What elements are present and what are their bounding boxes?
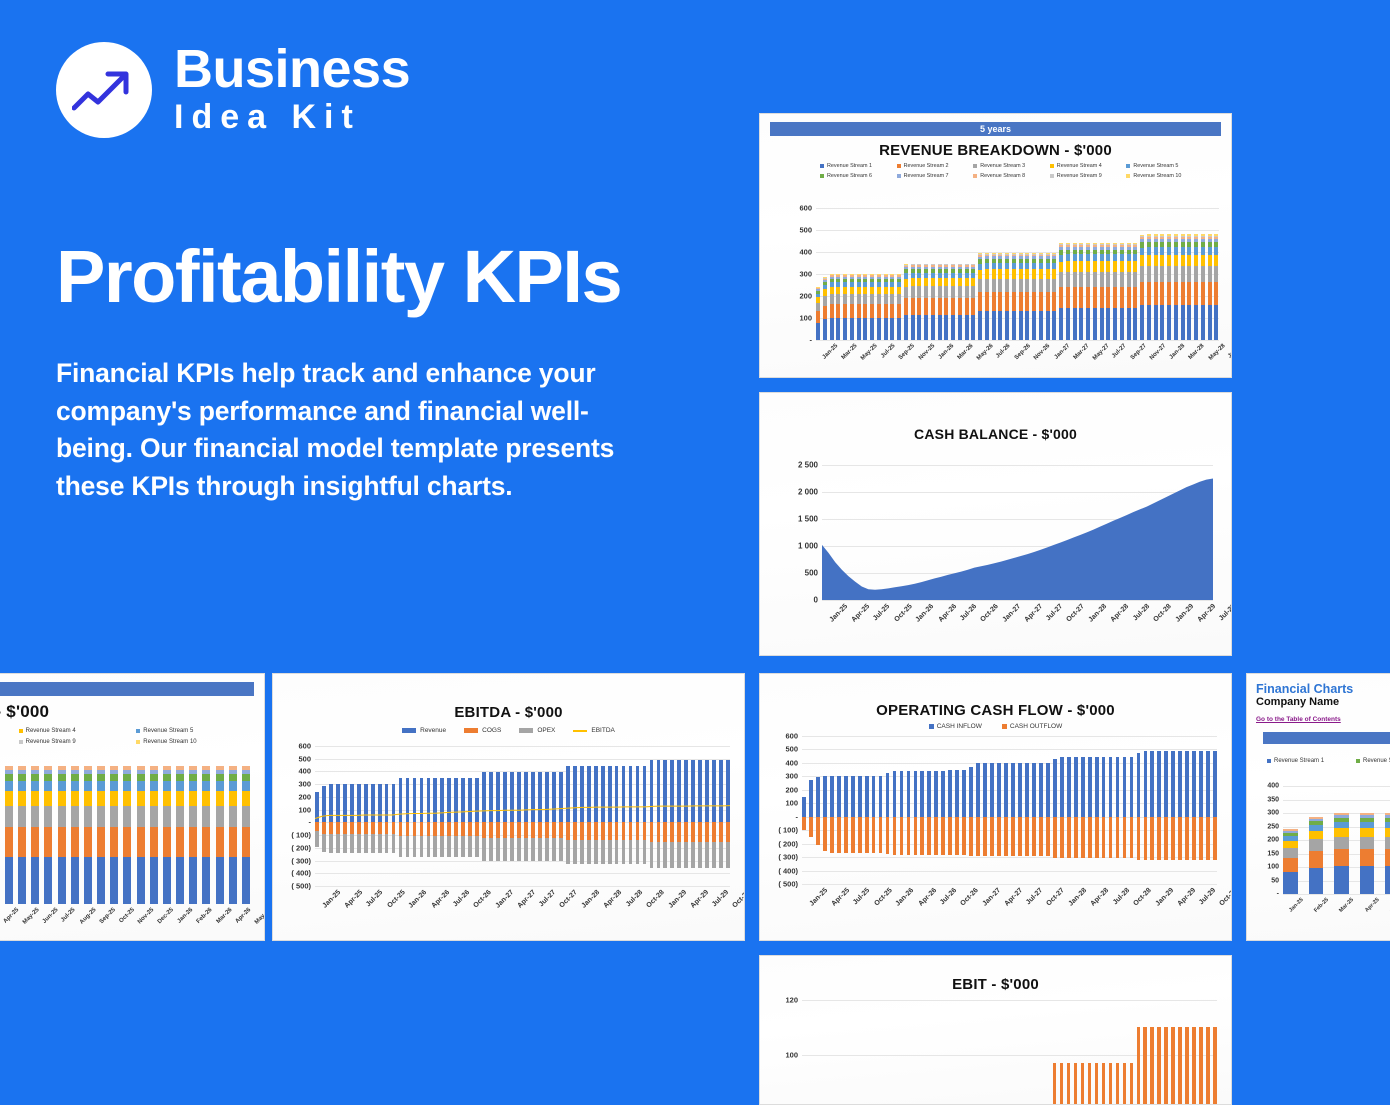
bar-segment bbox=[1120, 308, 1124, 340]
stacked-bar bbox=[71, 766, 79, 904]
bar-segment bbox=[97, 774, 105, 781]
bar-segment bbox=[123, 857, 131, 904]
bar-segment bbox=[1032, 279, 1036, 292]
bar-positive bbox=[802, 797, 806, 817]
bar-segment bbox=[216, 774, 224, 781]
bar bbox=[1213, 1027, 1216, 1105]
bar-series bbox=[0, 766, 250, 904]
bar-segment bbox=[137, 774, 145, 781]
bar-segment bbox=[1360, 837, 1375, 849]
legend-revenue-24m: Revenue Stream 3Revenue Stream 4Revenue … bbox=[0, 728, 254, 745]
bar-positive bbox=[1206, 751, 1210, 817]
x-axis-label: Jan-28 bbox=[1169, 343, 1187, 361]
plot-revenue-5y: 600500400300200100-Jan-25Mar-25May-25Jul… bbox=[816, 208, 1219, 340]
legend-item: Revenue Stream 8 bbox=[0, 739, 19, 745]
x-axis-label: Jul-29 bbox=[1218, 603, 1232, 622]
bar-segment bbox=[202, 806, 210, 827]
bar-positive bbox=[1025, 763, 1029, 817]
bar-segment bbox=[890, 287, 894, 294]
bar-segment bbox=[18, 806, 26, 827]
stacked-bar bbox=[202, 766, 210, 904]
bar-segment bbox=[1214, 282, 1218, 305]
bar-segment bbox=[870, 304, 874, 319]
stacked-bar bbox=[1214, 234, 1218, 340]
bar-segment bbox=[1093, 272, 1097, 287]
bar-segment bbox=[71, 774, 79, 781]
stacked-bar bbox=[1046, 253, 1050, 340]
bar-positive bbox=[920, 771, 924, 817]
y-axis-label: 600 bbox=[298, 742, 311, 751]
stacked-bar bbox=[1019, 253, 1023, 340]
bar-negative bbox=[844, 817, 848, 854]
bar-segment bbox=[985, 311, 989, 340]
bar-segment bbox=[1039, 292, 1043, 311]
bar-positive bbox=[1039, 763, 1043, 817]
bar-negative bbox=[872, 817, 876, 854]
panel-cash-balance[interactable]: CASH BALANCE - $'000 2 5002 0001 5001 00… bbox=[759, 392, 1232, 656]
bar-negative bbox=[976, 817, 980, 857]
bar-segment bbox=[216, 857, 224, 904]
bar-segment bbox=[843, 287, 847, 294]
bar-positive bbox=[844, 776, 848, 817]
bar-segment bbox=[1079, 308, 1083, 340]
x-axis: Jan-25Mar-25May-25Jul-25Sep-25Nov-25Jan-… bbox=[816, 343, 1219, 349]
bar-positive bbox=[886, 773, 890, 817]
bar-segment bbox=[1106, 308, 1110, 340]
stacked-bar bbox=[965, 263, 969, 340]
y-axis-label: 300 bbox=[1267, 810, 1279, 817]
bar-segment bbox=[924, 278, 928, 286]
bar-negative bbox=[914, 817, 918, 855]
x-axis-label: Jul-26 bbox=[959, 603, 978, 622]
bar-positive bbox=[934, 771, 938, 817]
bar-segment bbox=[931, 298, 935, 315]
x-axis-label: Jul-26 bbox=[996, 343, 1013, 360]
bar-segment bbox=[944, 298, 948, 315]
bar-segment bbox=[985, 292, 989, 311]
bar bbox=[1157, 1027, 1160, 1105]
bar-positive bbox=[865, 776, 869, 817]
bar-segment bbox=[44, 781, 52, 791]
bar-segment bbox=[150, 781, 158, 791]
bar-segment bbox=[216, 791, 224, 806]
bar bbox=[1081, 1063, 1084, 1105]
stacked-bar bbox=[998, 253, 1002, 340]
bar-segment bbox=[1167, 305, 1171, 340]
stacked-bar bbox=[1334, 813, 1349, 894]
x-axis-label: Jan-27 bbox=[494, 889, 515, 910]
bar-negative bbox=[1206, 817, 1210, 860]
bar bbox=[1123, 1063, 1126, 1105]
legend-label: Revenue Stream 1 bbox=[827, 163, 872, 169]
legend-label: OPEX bbox=[537, 727, 555, 734]
bar-segment bbox=[843, 294, 847, 304]
gridline bbox=[1283, 894, 1390, 895]
bar-negative bbox=[837, 817, 841, 853]
bar-segment bbox=[1201, 255, 1205, 267]
bar-segment bbox=[31, 827, 39, 857]
y-axis-label: 600 bbox=[785, 732, 798, 741]
stacked-bar bbox=[216, 766, 224, 904]
legend-label: Revenue Stream 6 bbox=[1363, 758, 1390, 764]
bar-segment bbox=[1181, 255, 1185, 267]
bar-segment bbox=[1194, 282, 1198, 305]
bar-segment bbox=[123, 806, 131, 827]
legend-item: Revenue Stream 1 bbox=[820, 163, 897, 169]
legend-label: Revenue Stream 9 bbox=[1057, 173, 1102, 179]
bar-segment bbox=[1120, 272, 1124, 287]
bar-segment bbox=[202, 857, 210, 904]
bar-segment bbox=[1120, 261, 1124, 272]
bar-negative bbox=[1213, 817, 1217, 860]
bar-segment bbox=[877, 304, 881, 319]
bar-segment bbox=[1052, 279, 1056, 292]
bar-negative bbox=[1144, 817, 1148, 860]
bar-segment bbox=[18, 774, 26, 781]
bar-positive bbox=[1150, 751, 1154, 817]
bar-segment bbox=[58, 827, 66, 857]
bar-segment bbox=[189, 827, 197, 857]
bar-negative bbox=[1004, 817, 1008, 857]
bar-segment bbox=[911, 286, 915, 297]
ebitda-line-series bbox=[315, 746, 730, 886]
table-of-contents-link[interactable]: Go to the Table of Contents bbox=[1256, 716, 1341, 723]
brand-text: Business Idea Kit bbox=[174, 42, 410, 139]
bar-segment bbox=[229, 857, 237, 904]
x-axis-label: May-26 bbox=[254, 907, 265, 926]
bar-segment bbox=[1086, 308, 1090, 340]
bar-segment bbox=[1201, 305, 1205, 340]
y-axis-label: 250 bbox=[1267, 823, 1279, 830]
bar-positive bbox=[969, 767, 973, 817]
legend-item: Revenue Stream 8 bbox=[973, 173, 1050, 179]
bar-segment bbox=[1093, 261, 1097, 272]
bar-segment bbox=[958, 315, 962, 340]
stacked-bar bbox=[911, 263, 915, 340]
bar-positive bbox=[1067, 757, 1071, 817]
legend-label: Revenue Stream 7 bbox=[904, 173, 949, 179]
bar-segment bbox=[1385, 849, 1390, 867]
bar-segment bbox=[877, 294, 881, 304]
bar-segment bbox=[1127, 287, 1131, 308]
bar-segment bbox=[1334, 866, 1349, 894]
bar-segment bbox=[978, 279, 982, 292]
x-axis-label: Apr-26 bbox=[937, 603, 958, 624]
bar-segment bbox=[917, 315, 921, 340]
bar-segment bbox=[1052, 311, 1056, 340]
legend-swatch-icon bbox=[1356, 759, 1360, 763]
bar-negative bbox=[1067, 817, 1071, 858]
bar-negative bbox=[1018, 817, 1022, 857]
bar-segment bbox=[137, 827, 145, 857]
bar-segment bbox=[1174, 305, 1178, 340]
bar-segment bbox=[1133, 272, 1137, 287]
bar-segment bbox=[123, 791, 131, 806]
x-axis-label: Jul-25 bbox=[880, 343, 897, 360]
bar-segment bbox=[1005, 269, 1009, 279]
bar-segment bbox=[1160, 266, 1164, 282]
stacked-bar bbox=[843, 274, 847, 340]
x-axis-label: Jan-26 bbox=[915, 603, 936, 624]
y-axis-label: 100 bbox=[785, 1051, 798, 1060]
bar-negative bbox=[1081, 817, 1085, 858]
brand-logo: Business Idea Kit bbox=[56, 42, 410, 139]
panel-operating-cash-flow[interactable]: OPERATING CASH FLOW - $'000 CASH INFLOWC… bbox=[759, 673, 1232, 941]
bar-segment bbox=[911, 298, 915, 315]
bar-segment bbox=[84, 781, 92, 791]
bar-segment bbox=[1019, 269, 1023, 279]
x-axis-label: Oct-27 bbox=[559, 889, 579, 909]
bar-segment bbox=[5, 806, 13, 827]
bar bbox=[1178, 1027, 1181, 1105]
bar-segment bbox=[850, 318, 854, 340]
bar-segment bbox=[938, 315, 942, 340]
page-title: Profitability KPIs bbox=[56, 240, 621, 314]
bar-segment bbox=[110, 827, 118, 857]
y-axis-label: - bbox=[810, 336, 813, 345]
x-axis-label: Jan-26 bbox=[408, 889, 429, 910]
y-axis-label: ( 200) bbox=[778, 839, 798, 848]
bar-negative bbox=[1053, 817, 1057, 858]
bar-segment bbox=[1093, 254, 1097, 261]
bar-segment bbox=[863, 294, 867, 304]
y-axis-label: 100 bbox=[1267, 864, 1279, 871]
bar-segment bbox=[884, 287, 888, 294]
stacked-bar bbox=[5, 766, 13, 904]
bar-segment bbox=[924, 315, 928, 340]
bar-segment bbox=[1073, 254, 1077, 261]
bar-segment bbox=[1167, 247, 1171, 254]
chart-title-ebit: EBIT - $'000 bbox=[760, 976, 1231, 993]
bar-segment bbox=[1100, 272, 1104, 287]
bar-segment bbox=[1283, 858, 1298, 872]
bar-negative bbox=[816, 817, 820, 845]
band-financial-charts bbox=[1263, 732, 1390, 744]
bar-negative bbox=[1178, 817, 1182, 860]
x-axis-label: Jan-27 bbox=[981, 887, 1002, 908]
stacked-bar bbox=[1100, 243, 1104, 340]
x-axis-label: Nov-25 bbox=[918, 343, 936, 361]
panel-ebit[interactable]: EBIT - $'000 12010080 bbox=[759, 955, 1232, 1105]
y-axis-label: 600 bbox=[799, 204, 812, 213]
bar-segment bbox=[1181, 266, 1185, 282]
stacked-bar bbox=[1127, 243, 1131, 340]
y-axis-label: ( 400) bbox=[291, 869, 311, 878]
legend-label: Revenue Stream 2 bbox=[904, 163, 949, 169]
bar-negative bbox=[1088, 817, 1092, 858]
stacked-bar bbox=[1039, 253, 1043, 340]
bar-negative bbox=[1150, 817, 1154, 860]
legend-swatch-icon bbox=[19, 729, 23, 733]
bar-segment bbox=[1309, 831, 1324, 840]
bar-segment bbox=[31, 774, 39, 781]
x-axis-label: Feb-26 bbox=[196, 907, 214, 925]
bar-segment bbox=[229, 827, 237, 857]
bar-segment bbox=[904, 315, 908, 340]
bar-segment bbox=[1214, 255, 1218, 267]
bar-segment bbox=[176, 781, 184, 791]
bar-segment bbox=[965, 286, 969, 297]
bar-segment bbox=[1113, 254, 1117, 261]
bar-segment bbox=[1154, 266, 1158, 282]
panel-ebitda[interactable]: EBITDA - $'000 RevenueCOGSOPEXEBITDA 600… bbox=[272, 673, 745, 941]
stacked-bar bbox=[137, 766, 145, 904]
panel-financial-charts[interactable]: Financial Charts Company Name Go to the … bbox=[1246, 673, 1390, 941]
y-axis-label: 100 bbox=[785, 799, 798, 808]
bar-segment bbox=[1032, 311, 1036, 340]
bar-segment bbox=[1187, 247, 1191, 254]
panel-revenue-breakdown-24m[interactable]: 24 months REAKDOWN - $'000 Revenue Strea… bbox=[0, 673, 265, 941]
y-axis-label: 2 500 bbox=[798, 461, 818, 470]
bar-negative bbox=[1095, 817, 1099, 858]
bar-segment bbox=[857, 287, 861, 294]
bar-negative bbox=[1123, 817, 1127, 858]
chart-title-revenue-5y: REVENUE BREAKDOWN - $'000 bbox=[760, 142, 1231, 159]
stacked-bar bbox=[890, 274, 894, 340]
bar-segment bbox=[110, 774, 118, 781]
bar-negative bbox=[1102, 817, 1106, 858]
legend-swatch-icon bbox=[136, 740, 140, 744]
bar-segment bbox=[931, 278, 935, 286]
bar-negative bbox=[920, 817, 924, 855]
bar-segment bbox=[1174, 282, 1178, 305]
stacked-bar bbox=[189, 766, 197, 904]
bar-segment bbox=[992, 311, 996, 340]
bar-segment bbox=[857, 304, 861, 319]
x-axis-label: May-25 bbox=[860, 343, 879, 362]
stacked-bar bbox=[1066, 243, 1070, 340]
bar-segment bbox=[137, 806, 145, 827]
x-axis-label: Apr-26 bbox=[234, 907, 252, 925]
y-axis-label: 2 000 bbox=[798, 488, 818, 497]
bar-segment bbox=[1127, 308, 1131, 340]
bar-negative bbox=[1116, 817, 1120, 858]
bar-segment bbox=[1360, 866, 1375, 894]
x-axis-label: Apr-25 bbox=[851, 603, 872, 624]
bar-segment bbox=[965, 298, 969, 315]
bar-segment bbox=[884, 318, 888, 340]
stacked-bar bbox=[830, 274, 834, 340]
bar-segment bbox=[1127, 261, 1131, 272]
stacked-bar bbox=[904, 264, 908, 340]
x-axis-label: Sep-27 bbox=[1129, 343, 1147, 361]
x-axis-label: Apr-28 bbox=[1110, 603, 1131, 624]
x-axis-label: Oct-25 bbox=[873, 887, 893, 907]
legend-label: Revenue Stream 8 bbox=[980, 173, 1025, 179]
bar-positive bbox=[1032, 763, 1036, 817]
x-axis-label: Oct-28 bbox=[1132, 887, 1152, 907]
bar-negative bbox=[941, 817, 945, 855]
bar-segment bbox=[897, 318, 901, 340]
bar-negative bbox=[1032, 817, 1036, 857]
bar bbox=[1185, 1027, 1188, 1105]
legend-label: Revenue Stream 1 bbox=[1274, 758, 1324, 764]
bar bbox=[1060, 1063, 1063, 1105]
bar-negative bbox=[1171, 817, 1175, 860]
bar bbox=[1109, 1063, 1112, 1105]
bar-segment bbox=[1025, 292, 1029, 311]
bar-segment bbox=[71, 827, 79, 857]
bar-segment bbox=[84, 774, 92, 781]
bar-negative bbox=[1192, 817, 1196, 860]
x-axis-label: Jul-27 bbox=[1045, 603, 1064, 622]
x-axis-label: Mar-25 bbox=[0, 907, 1, 925]
bar-segment bbox=[1140, 305, 1144, 340]
bar-segment bbox=[870, 294, 874, 304]
bar-segment bbox=[71, 781, 79, 791]
bar-segment bbox=[189, 791, 197, 806]
bar-positive bbox=[830, 776, 834, 817]
x-axis-label: Nov-26 bbox=[1033, 343, 1051, 361]
bar-segment bbox=[1181, 305, 1185, 340]
bar-segment bbox=[1086, 287, 1090, 308]
bar-segment bbox=[1309, 868, 1324, 894]
legend-item: Revenue Stream 4 bbox=[1050, 163, 1127, 169]
bar-segment bbox=[202, 827, 210, 857]
legend-swatch-icon bbox=[1050, 164, 1054, 168]
stacked-bar bbox=[1052, 253, 1056, 340]
plot-financial-charts: 40035030025020015010050-Jan-25Feb-25Mar-… bbox=[1283, 786, 1390, 894]
x-axis-label: Jan-28 bbox=[581, 889, 602, 910]
bar-segment bbox=[189, 857, 197, 904]
bar-series bbox=[802, 1000, 1217, 1105]
bar-segment bbox=[44, 774, 52, 781]
bar-segment bbox=[816, 323, 820, 340]
bar-negative bbox=[1074, 817, 1078, 858]
bar-segment bbox=[944, 315, 948, 340]
bar-segment bbox=[1187, 282, 1191, 305]
bar-segment bbox=[938, 278, 942, 286]
y-axis-label: ( 300) bbox=[778, 853, 798, 862]
bar-segment bbox=[850, 294, 854, 304]
bar-segment bbox=[951, 286, 955, 297]
chart-title-ocf: OPERATING CASH FLOW - $'000 bbox=[760, 702, 1231, 719]
y-axis-label: 400 bbox=[785, 758, 798, 767]
legend-swatch-icon bbox=[973, 164, 977, 168]
bar-segment bbox=[1208, 282, 1212, 305]
bar-segment bbox=[1147, 247, 1151, 254]
x-axis-label: Jan-26 bbox=[895, 887, 916, 908]
y-axis-label: 200 bbox=[298, 792, 311, 801]
legend-item: Revenue Stream 1 bbox=[1267, 758, 1356, 764]
x-axis-label: Mar-26 bbox=[956, 343, 974, 361]
bar-segment bbox=[1283, 841, 1298, 848]
stacked-bar bbox=[1106, 243, 1110, 340]
legend-swatch-icon bbox=[402, 728, 416, 733]
x-axis-label: Apr-25 bbox=[1364, 897, 1381, 914]
stacked-bar bbox=[992, 253, 996, 340]
x-axis-label: Oct-27 bbox=[1046, 887, 1066, 907]
bar-segment bbox=[1133, 287, 1137, 308]
bar-segment bbox=[1046, 311, 1050, 340]
bar-segment bbox=[18, 791, 26, 806]
panel-revenue-breakdown-5y[interactable]: 5 years REVENUE BREAKDOWN - $'000 Revenu… bbox=[759, 113, 1232, 378]
bar-segment bbox=[971, 278, 975, 286]
legend-swatch-icon bbox=[1267, 759, 1271, 763]
bar-segment bbox=[938, 286, 942, 297]
band-24-months: 24 months bbox=[0, 682, 254, 696]
bar-segment bbox=[1113, 308, 1117, 340]
bar-segment bbox=[1174, 247, 1178, 254]
bar-positive bbox=[1199, 751, 1203, 817]
bar-segment bbox=[229, 781, 237, 791]
bar-segment bbox=[1039, 311, 1043, 340]
bar-segment bbox=[110, 806, 118, 827]
bar-segment bbox=[904, 298, 908, 315]
bar-segment bbox=[1360, 849, 1375, 867]
x-axis-label: Jul-29 bbox=[1198, 887, 1217, 906]
y-axis-label: 1 500 bbox=[798, 515, 818, 524]
